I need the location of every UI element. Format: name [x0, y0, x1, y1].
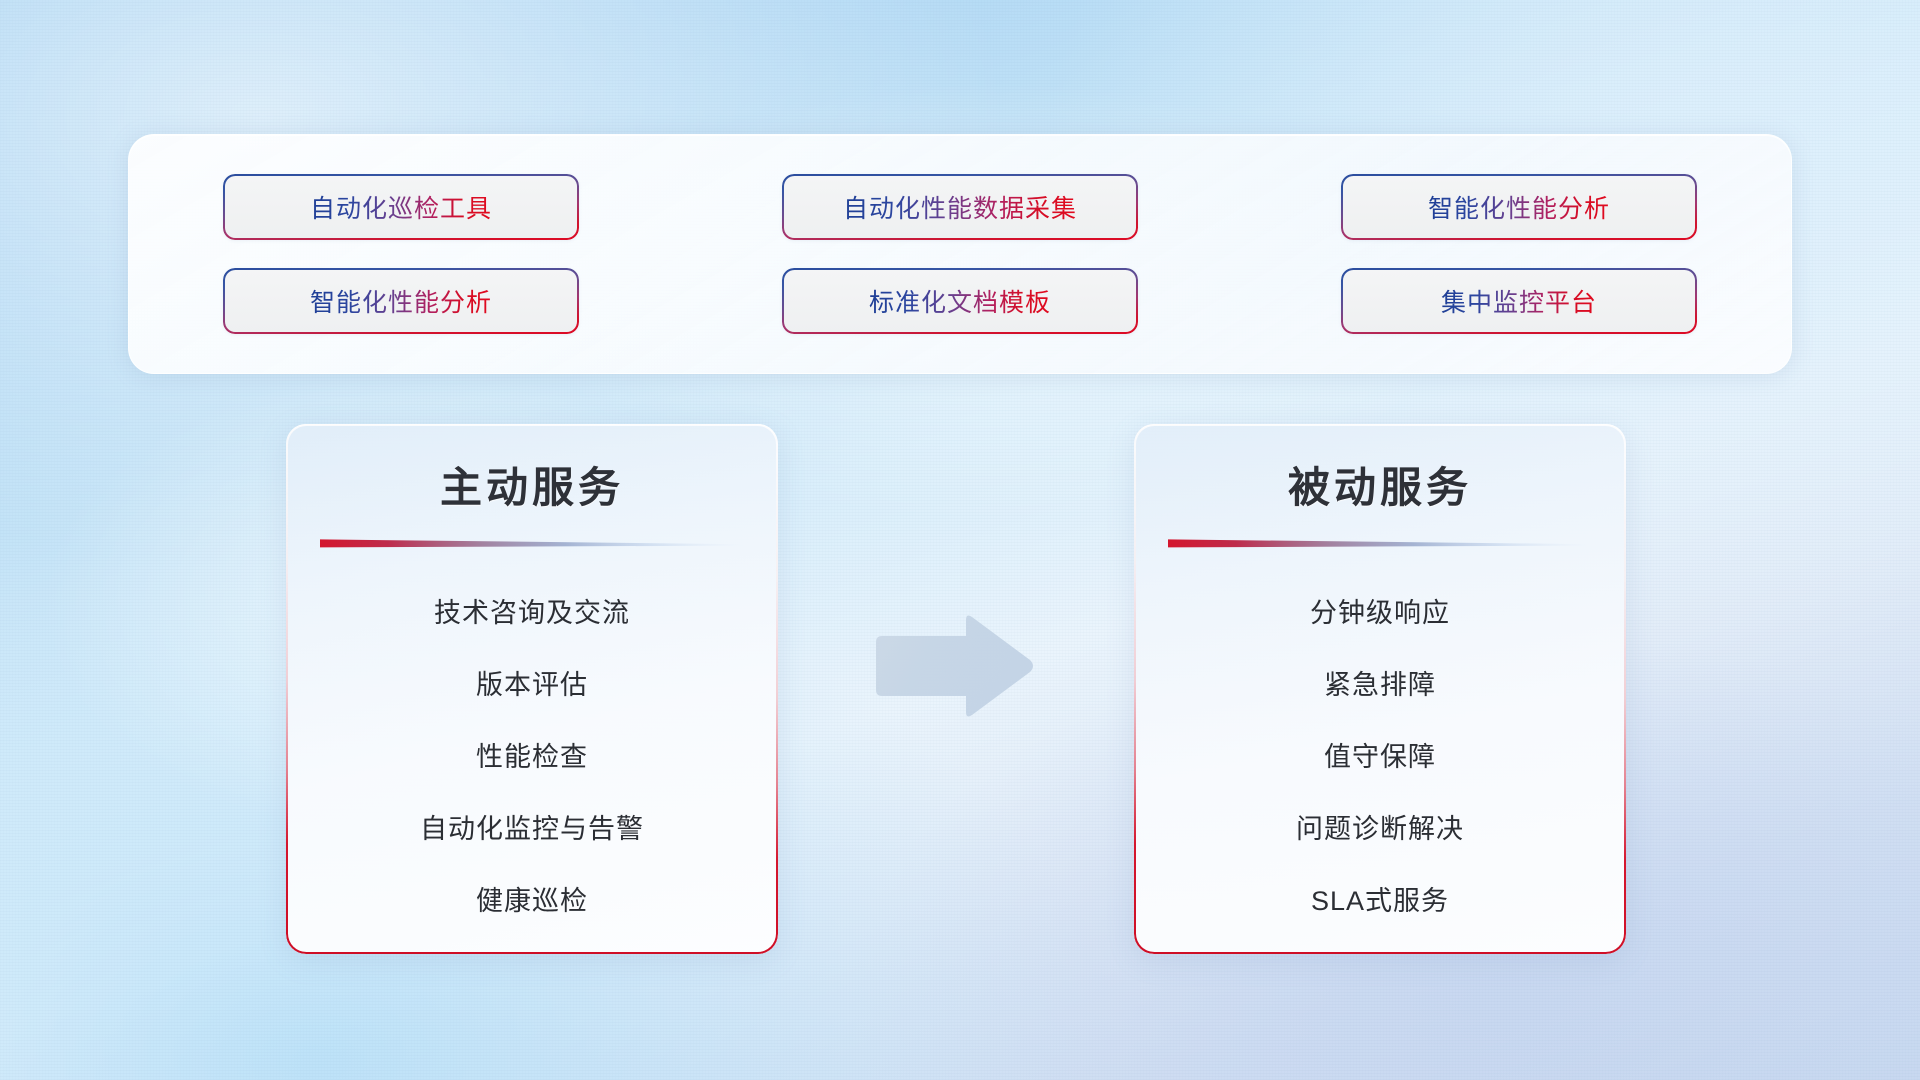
list-item: 值守保障	[1324, 721, 1436, 793]
service-card-list: 分钟级响应 紧急排障 值守保障 问题诊断解决 SLA式服务	[1168, 577, 1592, 937]
capability-pill-label: 集中监控平台	[1441, 283, 1597, 319]
list-item: 分钟级响应	[1310, 577, 1450, 649]
service-card-inner: 主动服务 技术咨询及交流 版本评估 性能检查	[286, 424, 778, 954]
capability-pill-label: 自动化性能数据采集	[843, 189, 1077, 225]
capability-pill-automated-inspection-tool[interactable]: 自动化巡检工具	[223, 174, 579, 240]
capability-pill-centralized-monitoring-platform[interactable]: 集中监控平台	[1341, 268, 1697, 334]
capability-pill-standardized-document-template[interactable]: 标准化文档模板	[782, 268, 1138, 334]
capability-pill-intelligent-performance-analysis-top[interactable]: 智能化性能分析	[1341, 174, 1697, 240]
service-card-title: 被动服务	[1288, 454, 1472, 515]
capability-pill-label: 自动化巡检工具	[310, 189, 492, 225]
list-item: SLA式服务	[1311, 865, 1449, 937]
service-card-passive: 被动服务 分钟级响应 紧急排障 值守保障	[1134, 424, 1626, 954]
capability-pill-label: 智能化性能分析	[310, 283, 492, 319]
list-item: 健康巡检	[476, 865, 588, 937]
capabilities-row-1: 自动化巡检工具 自动化性能数据采集 智能化性能分析	[223, 174, 1697, 240]
list-item: 性能检查	[476, 721, 588, 793]
capabilities-row-2: 智能化性能分析 标准化文档模板 集中监控平台	[223, 268, 1697, 334]
list-item: 技术咨询及交流	[434, 577, 630, 649]
flow-arrow-right-icon	[870, 612, 1038, 720]
list-item: 问题诊断解决	[1296, 793, 1464, 865]
capability-pill-automated-performance-data-collection[interactable]: 自动化性能数据采集	[782, 174, 1138, 240]
title-divider	[1168, 537, 1592, 549]
capability-pill-label: 智能化性能分析	[1428, 189, 1610, 225]
service-card-title: 主动服务	[440, 454, 624, 515]
capability-pill-label: 标准化文档模板	[869, 283, 1051, 319]
list-item: 紧急排障	[1324, 649, 1436, 721]
service-card-active: 主动服务 技术咨询及交流 版本评估 性能检查	[286, 424, 778, 954]
service-card-inner: 被动服务 分钟级响应 紧急排障 值守保障	[1134, 424, 1626, 954]
service-card-list: 技术咨询及交流 版本评估 性能检查 自动化监控与告警 健康巡检	[320, 577, 744, 937]
list-item: 自动化监控与告警	[420, 793, 644, 865]
capability-pill-intelligent-performance-analysis-bottom[interactable]: 智能化性能分析	[223, 268, 579, 334]
title-divider	[320, 537, 744, 549]
capabilities-panel: 自动化巡检工具 自动化性能数据采集 智能化性能分析 智能化性能分析 标准化文档模…	[128, 134, 1792, 374]
list-item: 版本评估	[476, 649, 588, 721]
